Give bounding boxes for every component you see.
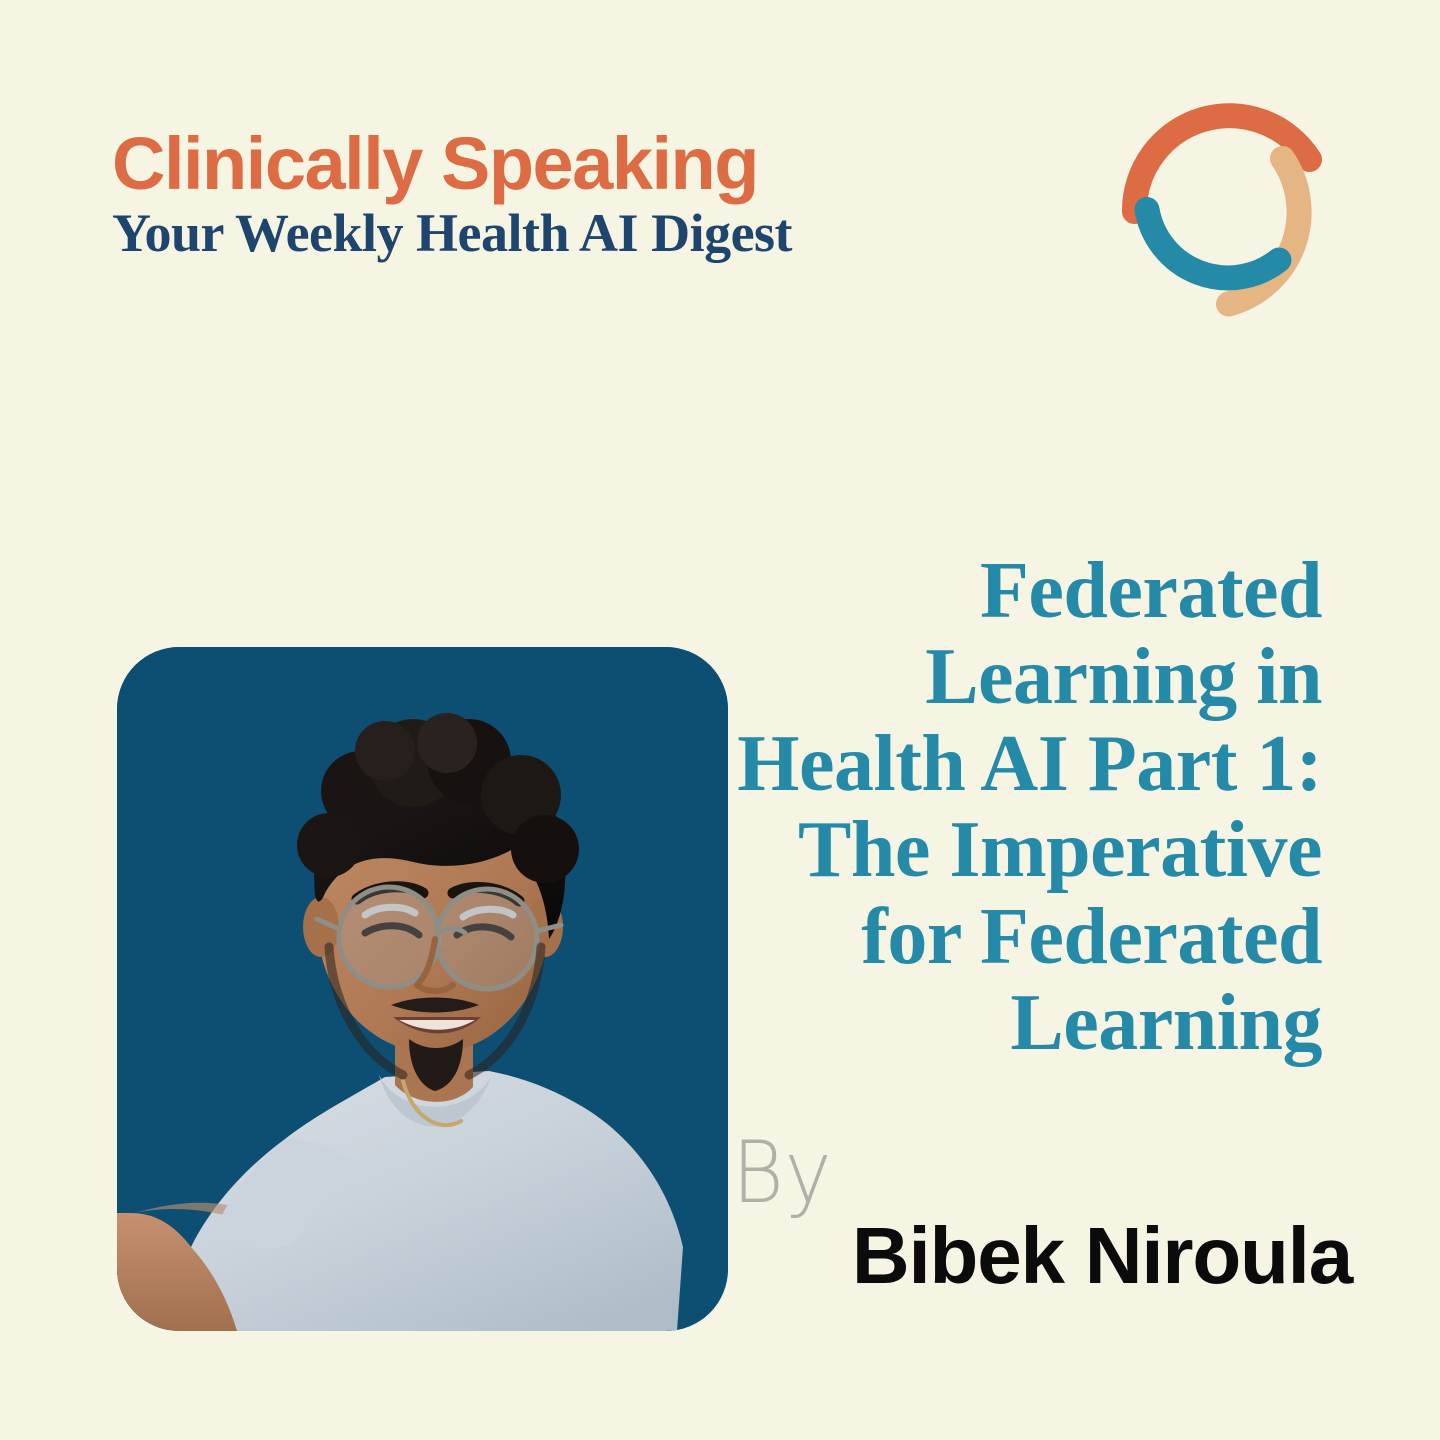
poster-canvas: Clinically Speaking Your Weekly Health A… [0, 0, 1440, 1440]
avatar [117, 647, 728, 1331]
logo-arc-bottom-left [1147, 210, 1279, 278]
brand-logo-icon [1116, 96, 1342, 322]
hair-curl [511, 815, 579, 883]
author-portrait-card [117, 647, 728, 1331]
masthead: Clinically Speaking Your Weekly Health A… [112, 128, 872, 262]
byline-by-label: By [732, 1130, 832, 1216]
brand-tagline: Your Weekly Health AI Digest [112, 205, 872, 262]
brand-title: Clinically Speaking [112, 128, 872, 199]
byline-author-name: Bibek Niroula [732, 1216, 1352, 1296]
hair-curl [297, 813, 361, 877]
article-title: Federated Learning in Health AI Part 1: … [732, 548, 1322, 1066]
hair-curl [355, 721, 415, 781]
byline: By Bibek Niroula [732, 1130, 1352, 1296]
hair-curl [417, 713, 477, 773]
